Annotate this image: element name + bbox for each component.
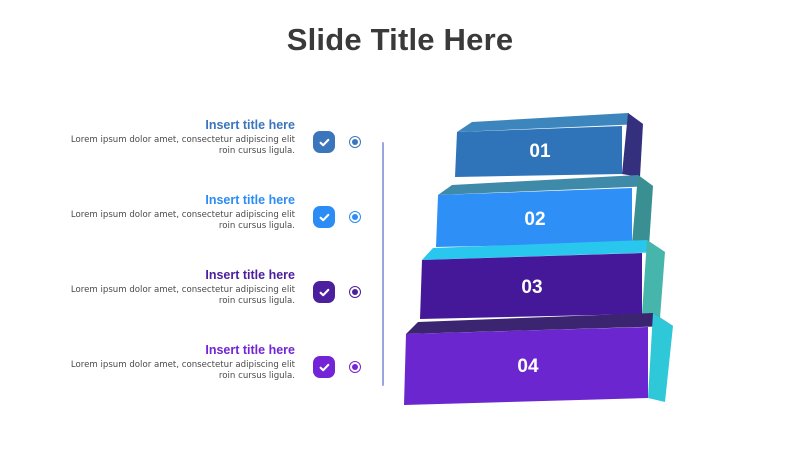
pyramid-diagram: 01 02 03 04 [400, 100, 700, 420]
pyramid-block-02[interactable]: 02 [436, 175, 653, 247]
radio-dot-icon[interactable] [349, 361, 361, 373]
radio-dot-icon[interactable] [349, 136, 361, 148]
list-item-description: Lorem ipsum dolor amet, consectetur adip… [65, 210, 295, 233]
list-item-title: Insert title here [65, 193, 295, 208]
radio-dot-icon[interactable] [349, 211, 361, 223]
check-icon[interactable] [313, 356, 335, 378]
list-item[interactable]: Insert title here Lorem ipsum dolor amet… [0, 343, 360, 401]
page-title: Slide Title Here [0, 22, 800, 58]
pyramid-block-03-label: 03 [521, 277, 542, 298]
list-item-text: Insert title here Lorem ipsum dolor amet… [65, 118, 295, 158]
list-item-title: Insert title here [65, 268, 295, 283]
pyramid-block-04-label: 04 [517, 356, 539, 377]
pyramid-block-04[interactable]: 04 [404, 313, 673, 405]
list-item[interactable]: Insert title here Lorem ipsum dolor amet… [0, 268, 360, 326]
radio-dot-icon[interactable] [349, 286, 361, 298]
list-item-title: Insert title here [65, 118, 295, 133]
list-item[interactable]: Insert title here Lorem ipsum dolor amet… [0, 118, 360, 176]
list-item-description: Lorem ipsum dolor amet, consectetur adip… [65, 360, 295, 383]
list-item-description: Lorem ipsum dolor amet, consectetur adip… [65, 285, 295, 308]
check-icon[interactable] [313, 131, 335, 153]
list-item-text: Insert title here Lorem ipsum dolor amet… [65, 268, 295, 308]
list-item-description: Lorem ipsum dolor amet, consectetur adip… [65, 135, 295, 158]
feature-list: Insert title here Lorem ipsum dolor amet… [0, 118, 360, 398]
pyramid-block-01[interactable]: 01 [455, 113, 643, 177]
list-item[interactable]: Insert title here Lorem ipsum dolor amet… [0, 193, 360, 251]
pyramid-block-01-label: 01 [529, 141, 551, 162]
list-item-text: Insert title here Lorem ipsum dolor amet… [65, 343, 295, 383]
check-icon[interactable] [313, 206, 335, 228]
check-icon[interactable] [313, 281, 335, 303]
vertical-divider [382, 142, 384, 386]
list-item-title: Insert title here [65, 343, 295, 358]
pyramid-block-03[interactable]: 03 [420, 240, 665, 319]
slide-canvas: Slide Title Here Insert title here Lorem… [0, 0, 800, 450]
pyramid-block-02-label: 02 [524, 209, 545, 230]
list-item-text: Insert title here Lorem ipsum dolor amet… [65, 193, 295, 233]
